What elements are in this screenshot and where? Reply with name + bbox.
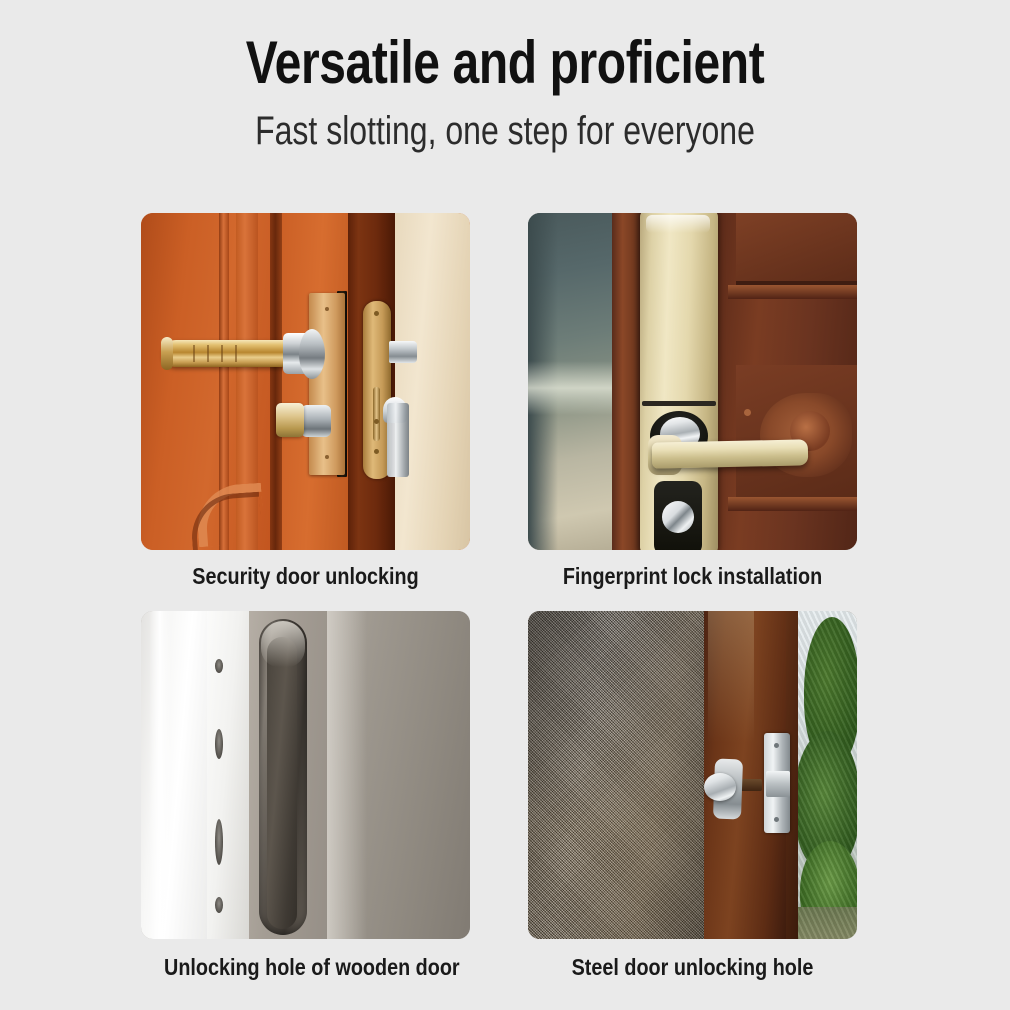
faceplate-slot — [373, 387, 380, 441]
thumb-turn-knob — [276, 403, 304, 437]
screw-hole — [215, 897, 223, 913]
photo-unlocking-hole-of-wooden-door — [141, 611, 470, 939]
wire-mesh-shading — [528, 611, 704, 939]
screw-hole — [215, 659, 223, 673]
lever-flute — [193, 345, 195, 362]
gallery-item-security-door-unlocking: Security door unlocking — [141, 213, 470, 590]
handle-rose — [299, 329, 325, 379]
header: Versatile and proficient Fast slotting, … — [0, 30, 1010, 154]
brass-lever-handle — [163, 340, 289, 367]
faceplate-screw-icon — [374, 311, 379, 316]
wood-rail — [728, 285, 857, 299]
door-groove-dark — [270, 213, 282, 550]
faceplate-screw-icon — [374, 419, 379, 424]
strike-plate-screw-icon — [774, 743, 779, 748]
caption-fingerprint-lock-installation: Fingerprint lock installation — [551, 562, 834, 590]
caption-steel-door-unlocking-hole: Steel door unlocking hole — [551, 953, 834, 981]
key-cylinder-icon — [662, 501, 694, 533]
door-slab-highlight — [327, 611, 367, 939]
mortise-pocket-highlight — [261, 621, 305, 667]
image-gallery-grid: Security door unlocking — [141, 213, 856, 993]
page-title: Versatile and proficient — [101, 30, 909, 96]
photo-steel-door-unlocking-hole — [528, 611, 857, 939]
lock-panel-seam — [642, 401, 716, 406]
white-door-edge — [207, 611, 249, 939]
escutcheon-screw-icon — [325, 455, 329, 459]
photo-fingerprint-lock-installation — [528, 213, 857, 550]
strike-plate-box — [766, 771, 790, 797]
strike-plate-screw-icon — [774, 817, 779, 822]
lever-end-cap — [161, 337, 173, 370]
lock-panel-highlight — [646, 215, 710, 233]
thumb-turn-knob — [704, 773, 736, 801]
door-frame-jamb — [395, 213, 470, 550]
lever-flute — [221, 345, 223, 362]
screw-hole — [215, 819, 223, 865]
gallery-item-unlocking-hole-of-wooden-door: Unlocking hole of wooden door — [141, 611, 470, 981]
foliage-texture — [794, 611, 857, 939]
thumb-turn-base — [301, 405, 331, 437]
photo-security-door-unlocking — [141, 213, 470, 550]
wood-rail — [728, 497, 857, 511]
latch-bolt — [389, 341, 417, 363]
gallery-item-steel-door-unlocking-hole: Steel door unlocking hole — [528, 611, 857, 981]
wood-carving-dot — [744, 409, 751, 416]
mortise-pocket-inner — [267, 637, 297, 929]
lever-flute — [207, 345, 209, 362]
page-subtitle: Fast slotting, one step for everyone — [101, 108, 909, 154]
wood-panel-top — [736, 213, 857, 285]
door-stile — [612, 213, 642, 550]
faceplate-screw-icon — [374, 449, 379, 454]
caption-unlocking-hole-of-wooden-door: Unlocking hole of wooden door — [164, 953, 447, 981]
escutcheon-screw-icon — [325, 307, 329, 311]
product-infographic: Versatile and proficient Fast slotting, … — [0, 0, 1010, 1010]
glass-reflection — [528, 361, 616, 415]
steel-door-highlight — [708, 611, 754, 743]
brass-escutcheon-plate — [309, 293, 345, 475]
champagne-lever-handle — [652, 439, 809, 468]
caption-security-door-unlocking: Security door unlocking — [164, 562, 447, 590]
latch-shaft — [740, 779, 762, 791]
gallery-item-fingerprint-lock-installation: Fingerprint lock installation — [528, 213, 857, 590]
white-door-highlight — [149, 611, 171, 939]
screw-hole — [215, 729, 223, 759]
deadbolt — [387, 403, 409, 477]
lever-flute — [235, 345, 237, 362]
